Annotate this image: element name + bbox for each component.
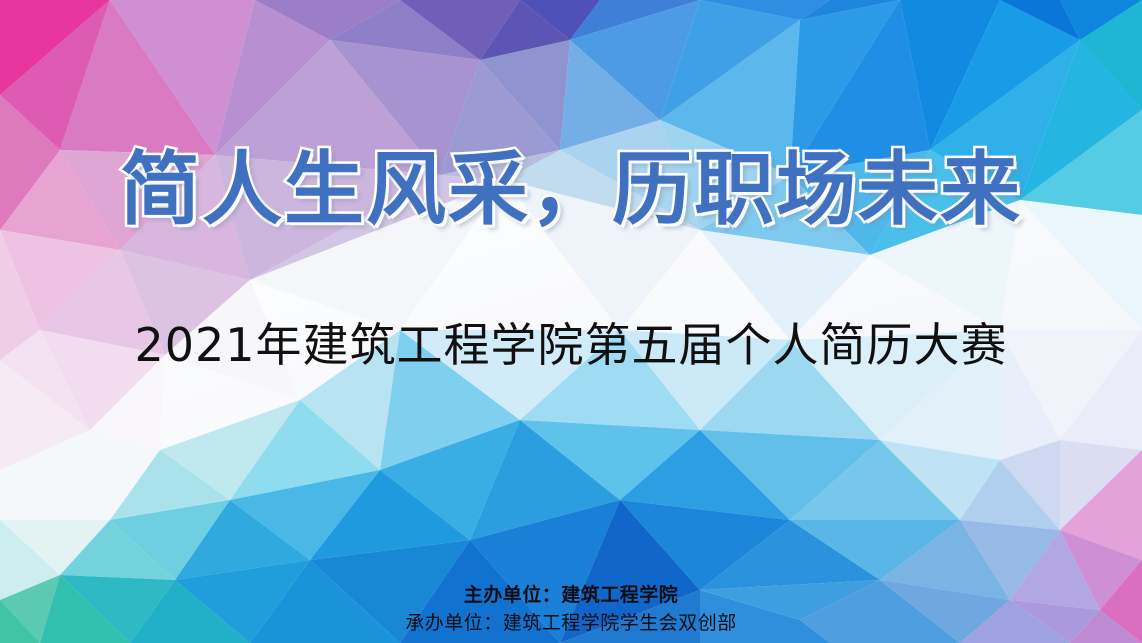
main-title-container: 简人生风采，历职场未来 [0, 150, 1142, 230]
poster-content: 简人生风采，历职场未来 2021年建筑工程学院第五届个人简历大赛 主办单位：建筑… [0, 0, 1142, 643]
footer: 主办单位：建筑工程学院 承办单位：建筑工程学院学生会双创部 [0, 581, 1142, 637]
poster-slide: 简人生风采，历职场未来 2021年建筑工程学院第五届个人简历大赛 主办单位：建筑… [0, 0, 1142, 643]
page-subtitle: 2021年建筑工程学院第五届个人简历大赛 [134, 322, 1007, 368]
organizer-line: 承办单位：建筑工程学院学生会双创部 [0, 609, 1142, 637]
page-title: 简人生风采，历职场未来 [120, 150, 1022, 230]
host-organization-line: 主办单位：建筑工程学院 [0, 581, 1142, 609]
subtitle-container: 2021年建筑工程学院第五届个人简历大赛 [0, 322, 1142, 368]
